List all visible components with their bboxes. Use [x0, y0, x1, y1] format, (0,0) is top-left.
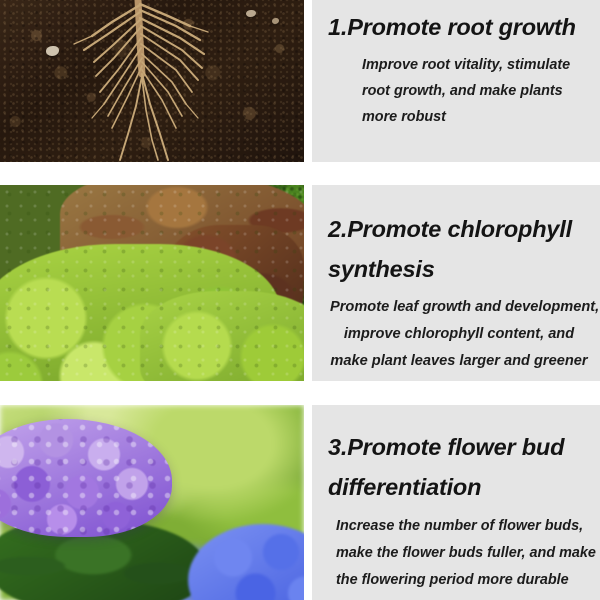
body-line: the flowering period more durable: [336, 567, 588, 594]
body-line: Increase the number of flower buds,: [336, 513, 588, 540]
hydrangea-scene: [0, 405, 304, 600]
body-line: Improve root vitality, stimulate: [362, 52, 588, 78]
benefit-body-1: Improve root vitality, stimulate root gr…: [328, 41, 588, 130]
benefit-text-1: 1.Promote root growth Improve root vital…: [312, 0, 600, 162]
benefit-panel-3: 3.Promote flower bud differentiation Inc…: [0, 405, 600, 600]
benefit-heading-1: 1.Promote root growth: [328, 0, 588, 41]
garden-background: [0, 185, 304, 381]
benefit-heading-3: 3.Promote flower bud differentiation: [328, 405, 588, 507]
root-system-illustration: [0, 0, 304, 162]
lettuce-garden-photo: [0, 185, 304, 381]
hydrangea-photo: [0, 405, 304, 600]
body-line: Promote leaf growth and development,: [330, 294, 588, 321]
benefit-body-3: Increase the number of flower buds, make…: [328, 507, 588, 594]
body-line: more robust: [362, 104, 588, 130]
roots-in-soil-photo: [0, 0, 304, 162]
leaf-texture-overlay: [0, 185, 304, 381]
benefit-heading-2: 2.Promote chlorophyll synthesis: [328, 185, 588, 289]
body-line: root growth, and make plants: [362, 78, 588, 104]
benefit-text-3: 3.Promote flower bud differentiation Inc…: [312, 405, 600, 600]
body-line: improve chlorophyll content, and: [330, 321, 588, 348]
benefit-text-2: 2.Promote chlorophyll synthesis Promote …: [312, 185, 600, 381]
benefit-body-2: Promote leaf growth and development, imp…: [328, 289, 588, 375]
benefit-panel-1: 1.Promote root growth Improve root vital…: [0, 0, 600, 162]
benefit-panel-2: 2.Promote chlorophyll synthesis Promote …: [0, 185, 600, 381]
benefits-infographic: 1.Promote root growth Improve root vital…: [0, 0, 600, 600]
body-line: make plant leaves larger and greener: [330, 348, 588, 375]
body-line: make the flower buds fuller, and make: [336, 540, 588, 567]
